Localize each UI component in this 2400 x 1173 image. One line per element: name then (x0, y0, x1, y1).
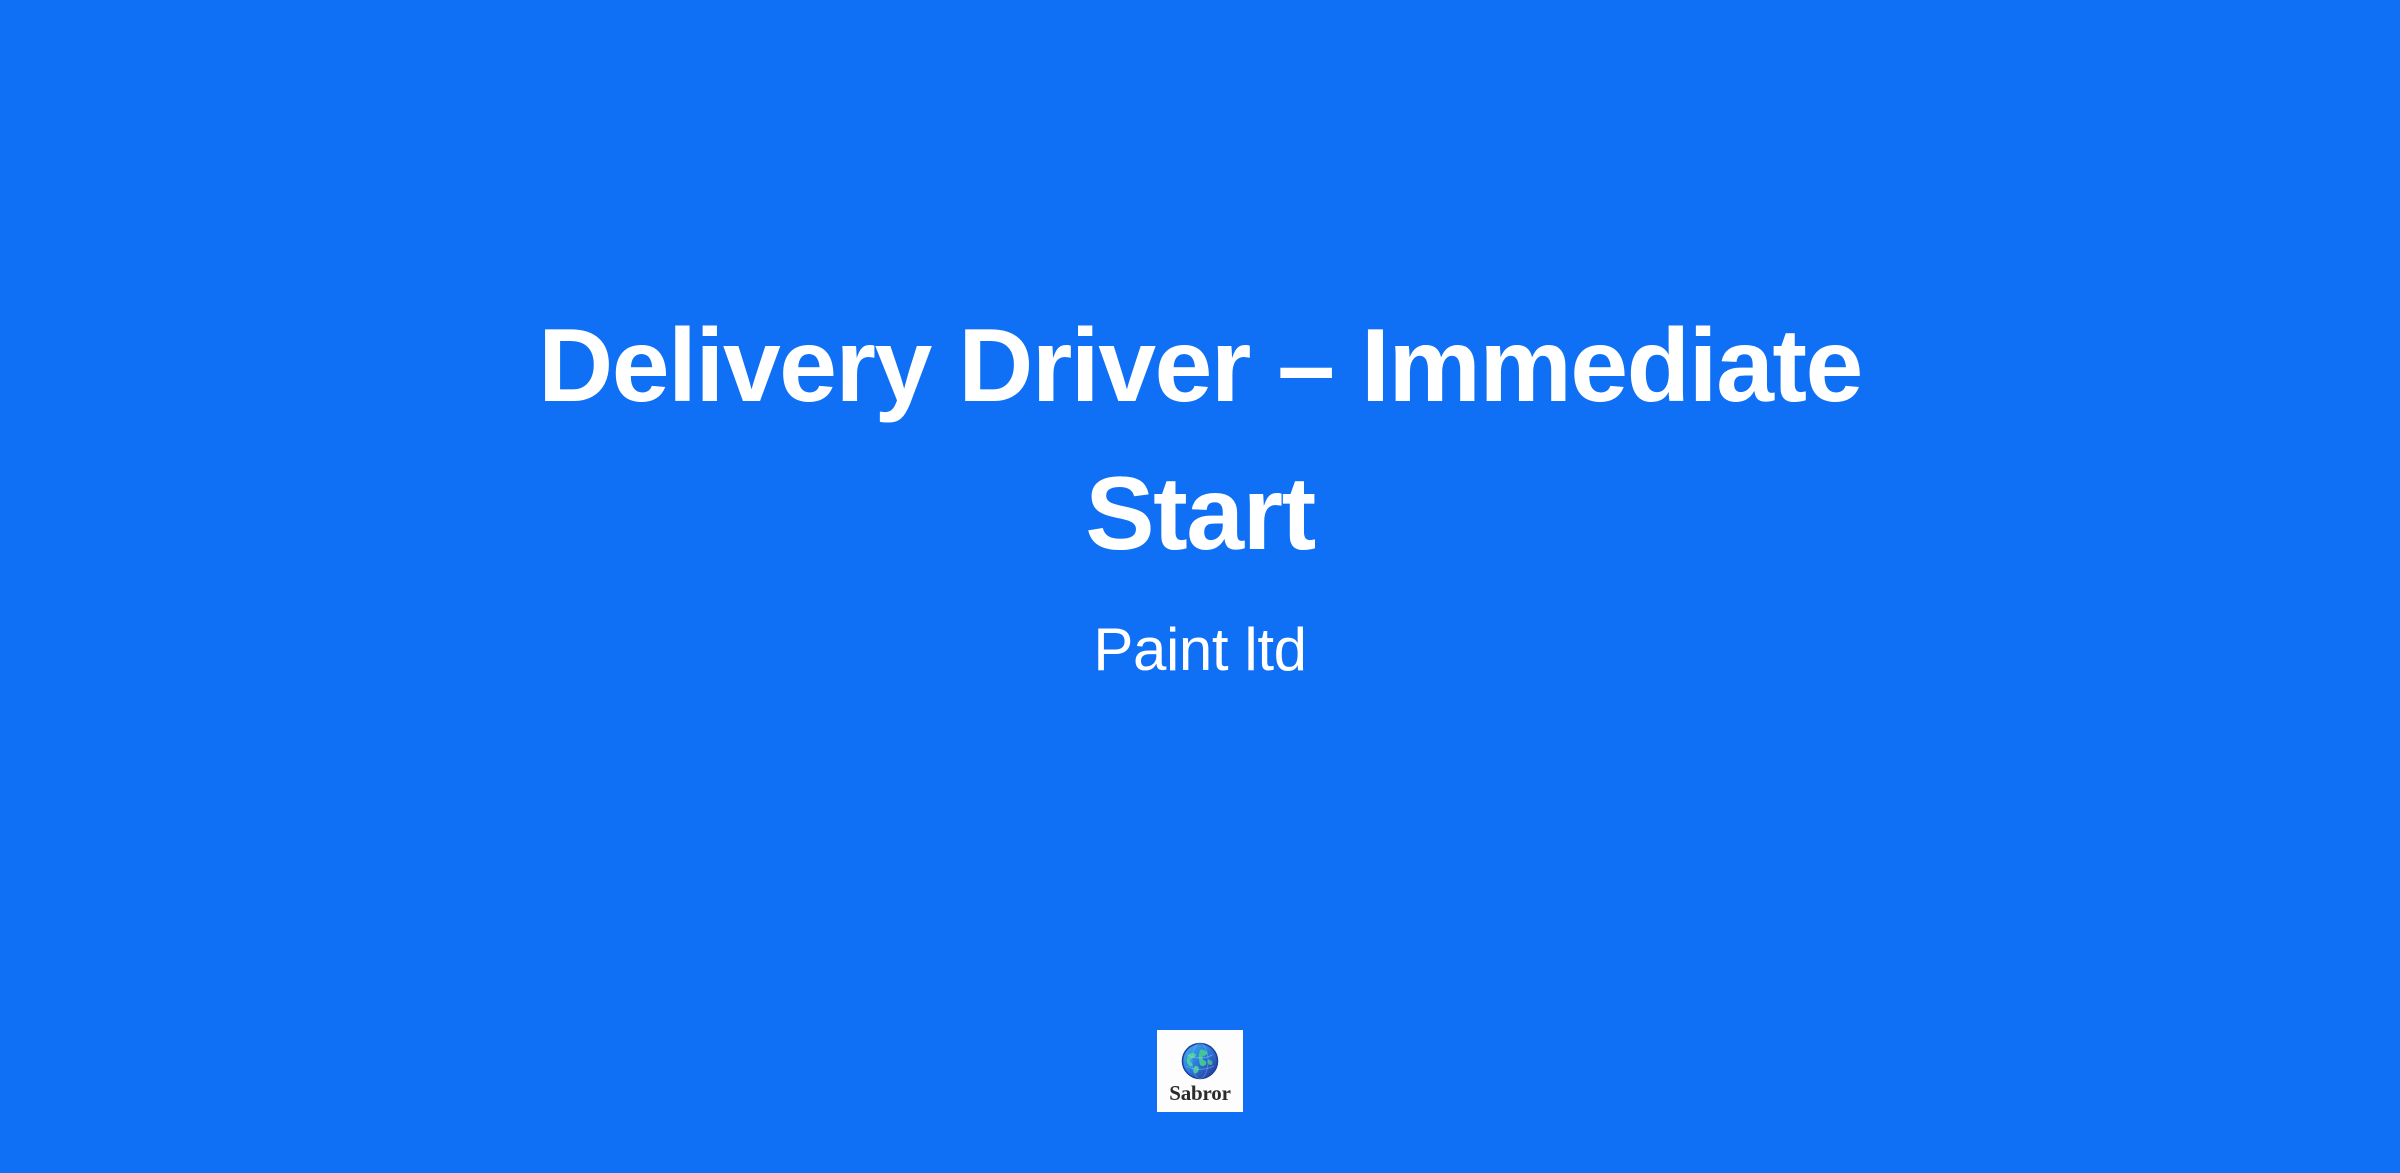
company-name: Paint ltd (1093, 614, 1306, 686)
hero-text-block: Delivery Driver – Immediate Start Paint … (0, 292, 2400, 686)
brand-wordmark: Sabror (1169, 1082, 1230, 1104)
brand-logo[interactable]: Sabror (1157, 1030, 1243, 1112)
page-title: Delivery Driver – Immediate Start (420, 292, 1980, 588)
globe-icon (1180, 1041, 1220, 1081)
job-share-card: Delivery Driver – Immediate Start Paint … (0, 0, 2400, 1173)
